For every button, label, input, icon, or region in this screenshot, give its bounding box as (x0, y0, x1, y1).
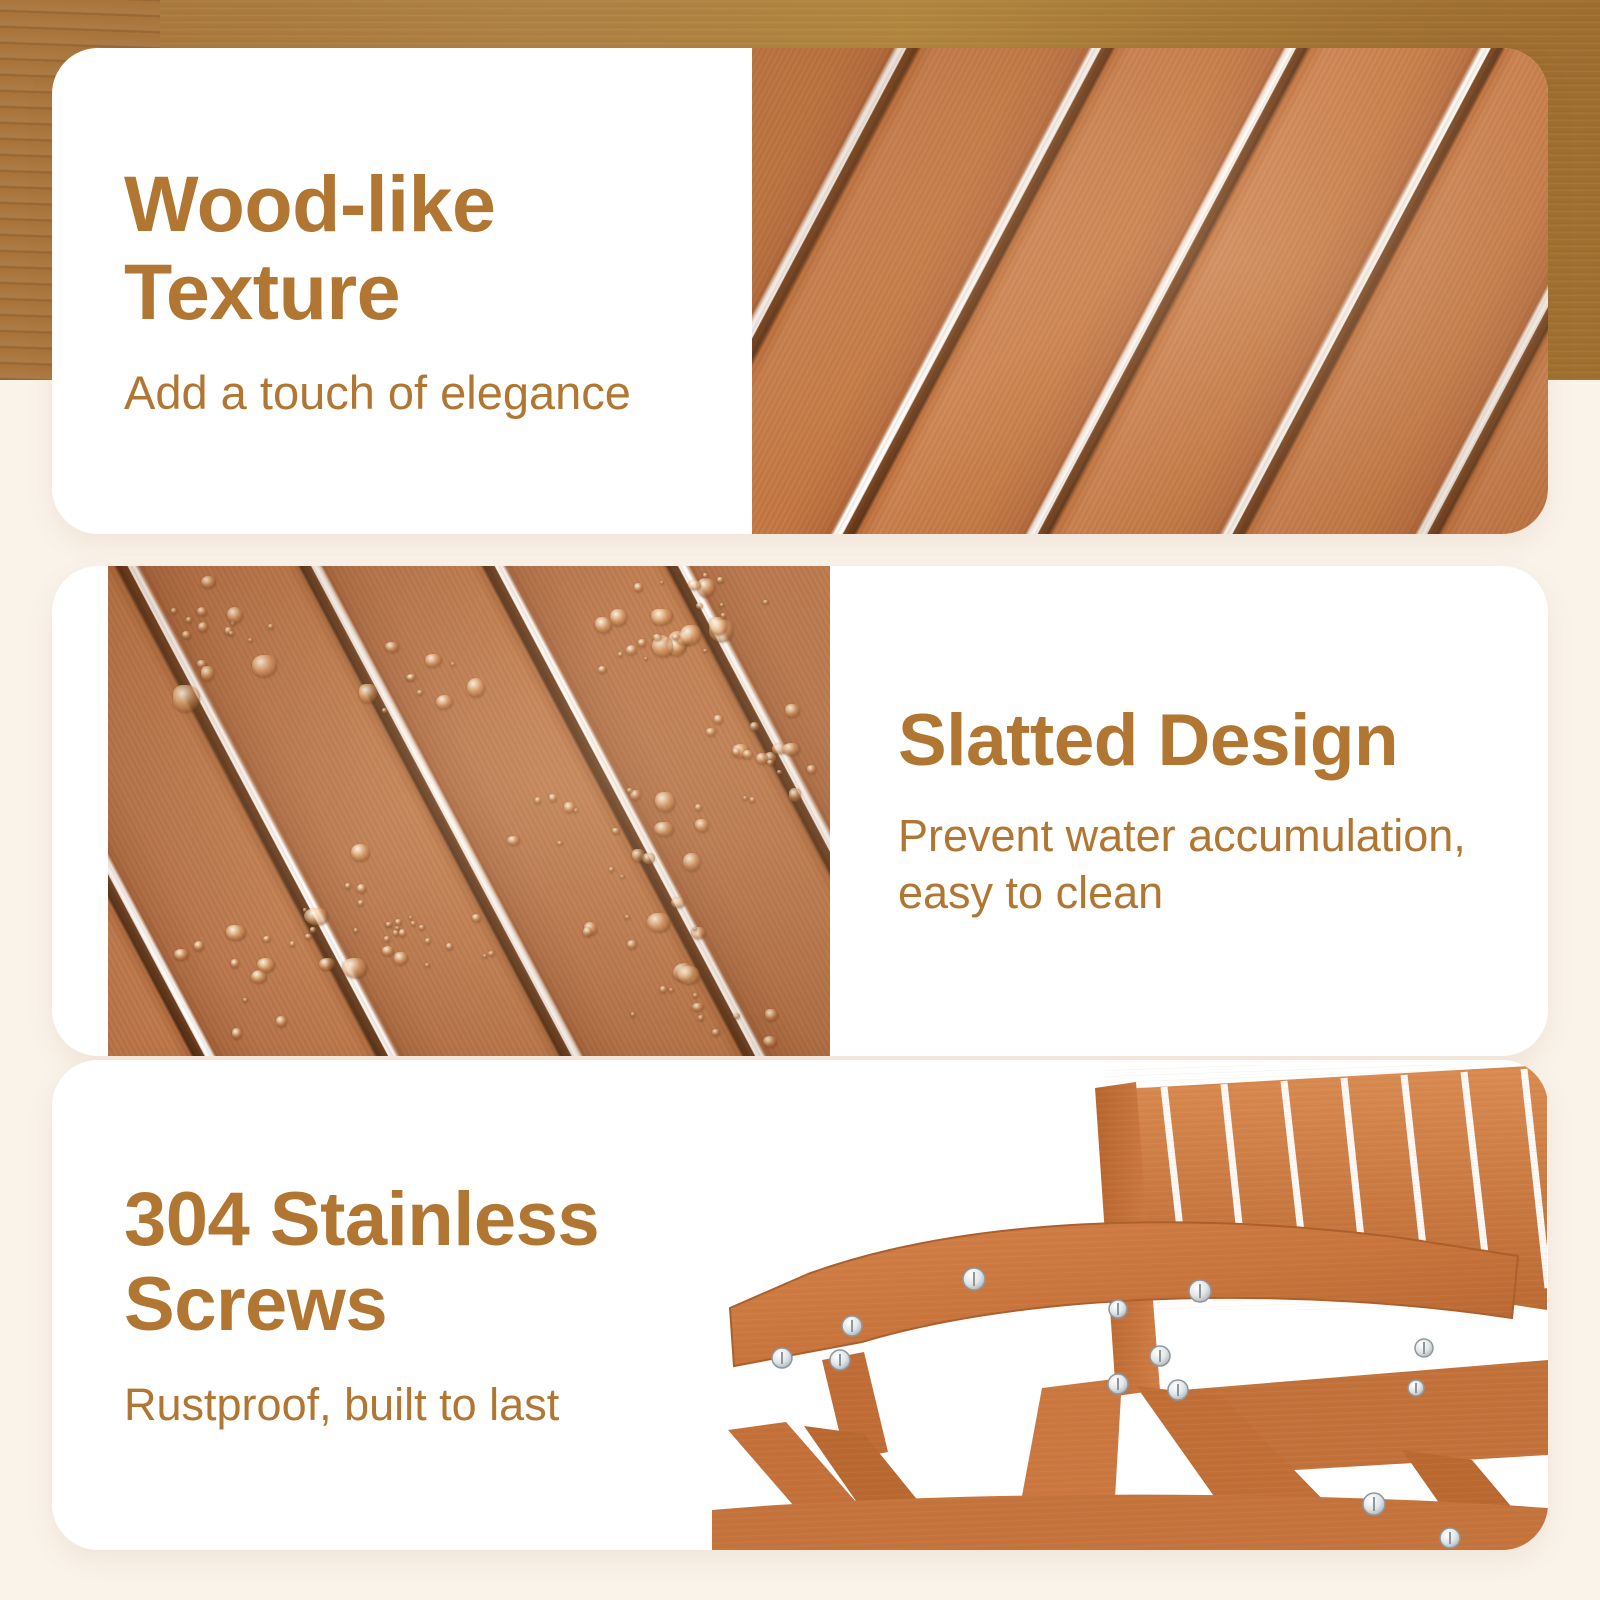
card-title: Wood-like Texture (124, 160, 752, 337)
screw (1108, 1374, 1128, 1394)
folding-chair-image (712, 1060, 1548, 1550)
card-text-block: 304 Stainless Screws Rustproof, built to… (52, 1060, 712, 1550)
card-title: Slatted Design (898, 700, 1548, 782)
screw (1415, 1339, 1433, 1357)
screw (1189, 1280, 1211, 1302)
card-title: 304 Stainless Screws (124, 1177, 712, 1347)
infographic-page: Wood-like Texture Add a touch of eleganc… (0, 0, 1600, 1600)
chair-svg (712, 1060, 1548, 1550)
screw (963, 1268, 985, 1290)
card-text-block: Wood-like Texture Add a touch of eleganc… (52, 48, 752, 534)
screw (1440, 1528, 1460, 1548)
card-subtitle: Prevent water accumulation, easy to clea… (898, 808, 1548, 921)
card-subtitle: Add a touch of elegance (124, 363, 752, 422)
screw (1363, 1493, 1385, 1515)
screw (830, 1350, 850, 1370)
chair-illustration (712, 1060, 1548, 1550)
screw (1408, 1380, 1424, 1396)
feature-card-304-stainless-screws: 304 Stainless Screws Rustproof, built to… (52, 1060, 1548, 1550)
card-subtitle: Rustproof, built to last (124, 1377, 712, 1434)
screw (1150, 1346, 1170, 1366)
card-text-block: Slatted Design Prevent water accumulatio… (830, 566, 1548, 1056)
lighting-overlay (108, 566, 830, 1056)
screw (772, 1348, 792, 1368)
chair-bottom-rail (712, 1495, 1548, 1550)
feature-card-slatted-design: Slatted Design Prevent water accumulatio… (52, 566, 1548, 1056)
feature-card-wood-like-texture: Wood-like Texture Add a touch of eleganc… (52, 48, 1548, 534)
lighting-overlay (752, 48, 1548, 534)
wood-slats-image (752, 48, 1548, 534)
water-droplets-image (108, 566, 830, 1056)
screw (1168, 1380, 1188, 1400)
screw (842, 1316, 862, 1336)
screw (1109, 1300, 1127, 1318)
